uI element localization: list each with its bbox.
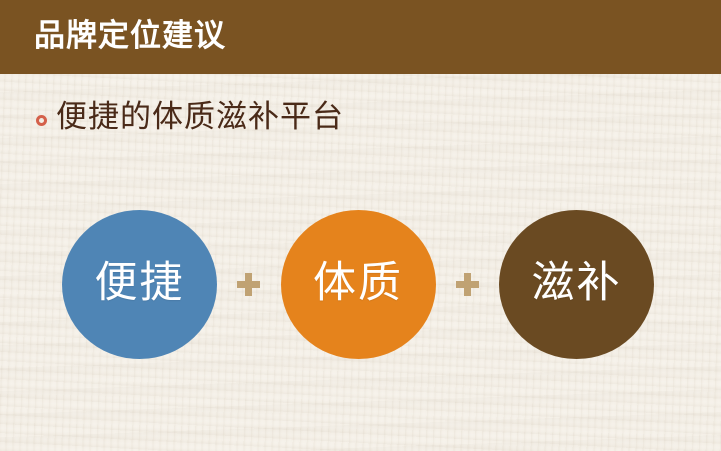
concept-label: 便捷 [95,261,185,307]
concept-label: 体质 [313,261,403,307]
concept-circle-nourishment: 滋补 [499,210,654,359]
slide-canvas: 品牌定位建议 便捷的体质滋补平台 便捷 体质 滋补 [0,0,721,451]
concept-circle-convenience: 便捷 [62,210,217,359]
page-title: 品牌定位建议 [34,14,226,58]
brand-positioning-formula-diagram: 便捷 体质 滋补 [62,208,654,360]
title-bar: 品牌定位建议 [0,0,721,74]
subtitle-row: 便捷的体质滋补平台 [36,98,344,136]
concept-circle-constitution: 体质 [281,210,436,359]
plus-icon [237,273,260,296]
plus-icon [456,273,479,296]
concept-label: 滋补 [532,261,622,307]
hollow-circle-bullet-icon [36,115,47,126]
subtitle-text: 便捷的体质滋补平台 [56,98,344,136]
